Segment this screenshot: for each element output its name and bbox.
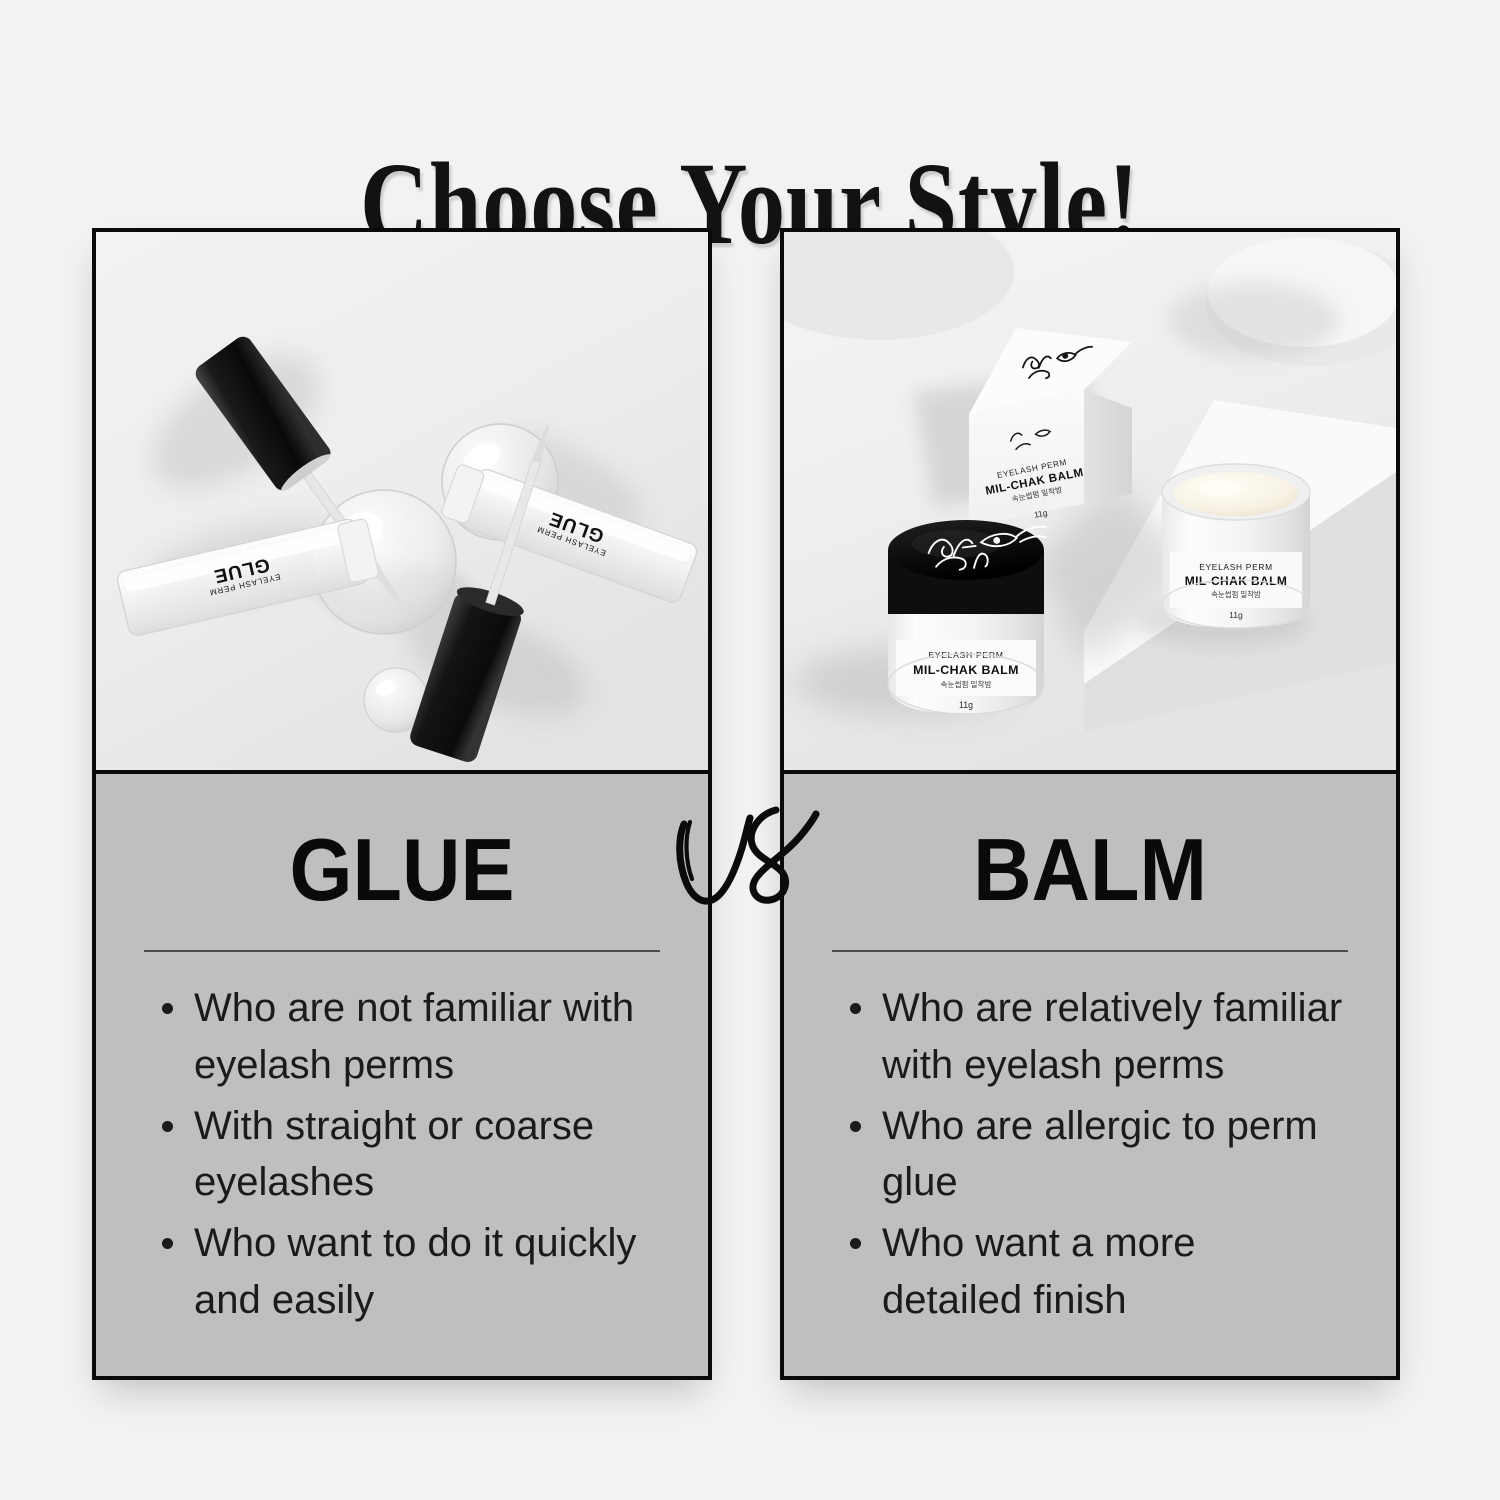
svg-text:EYELASH PERM: EYELASH PERM [1199, 562, 1273, 572]
svg-text:MIL-CHAK BALM: MIL-CHAK BALM [913, 663, 1019, 677]
glue-product-photo: EYELASH PERM GLUE EYELASH PERM GLUE [96, 232, 708, 774]
panel-balm: EYELASH PERM MIL-CHAK BALM 속눈썹펌 밀착밤 11g [780, 228, 1400, 1380]
panel-divider-rule [832, 950, 1348, 952]
svg-text:11g: 11g [1229, 610, 1243, 620]
list-item: Who want a more detailed finish [842, 1215, 1346, 1329]
panel-heading-balm: BALM [849, 774, 1331, 914]
panel-heading-glue: GLUE [161, 774, 643, 914]
svg-text:MIL-CHAK BALM: MIL-CHAK BALM [1185, 574, 1288, 588]
list-item: Who are relatively familiar with eyelash… [842, 980, 1346, 1094]
list-item: Who are allergic to perm glue [842, 1098, 1346, 1212]
comparison-container: EYELASH PERM GLUE EYELASH PERM GLUE [92, 228, 1400, 1380]
svg-text:속눈썹펌 밀착밤: 속눈썹펌 밀착밤 [940, 679, 991, 689]
list-item: With straight or coarse eyelashes [154, 1098, 658, 1212]
list-item: Who want to do it quickly and easily [154, 1215, 658, 1329]
panel-divider-rule [144, 950, 660, 952]
glue-benefits-list: Who are not familiar with eyelash perms … [140, 980, 664, 1329]
balm-product-photo: EYELASH PERM MIL-CHAK BALM 속눈썹펌 밀착밤 11g [784, 232, 1396, 774]
svg-text:속눈썹펌 밀착밤: 속눈썹펌 밀착밤 [1211, 590, 1261, 599]
panel-glue: EYELASH PERM GLUE EYELASH PERM GLUE [92, 228, 712, 1380]
svg-text:11g: 11g [959, 700, 973, 710]
list-item: Who are not familiar with eyelash perms [154, 980, 658, 1094]
balm-benefits-list: Who are relatively familiar with eyelash… [828, 980, 1352, 1329]
balm-panel-body: BALM Who are relatively familiar with ey… [784, 774, 1396, 1376]
glue-panel-body: GLUE Who are not familiar with eyelash p… [96, 774, 708, 1376]
